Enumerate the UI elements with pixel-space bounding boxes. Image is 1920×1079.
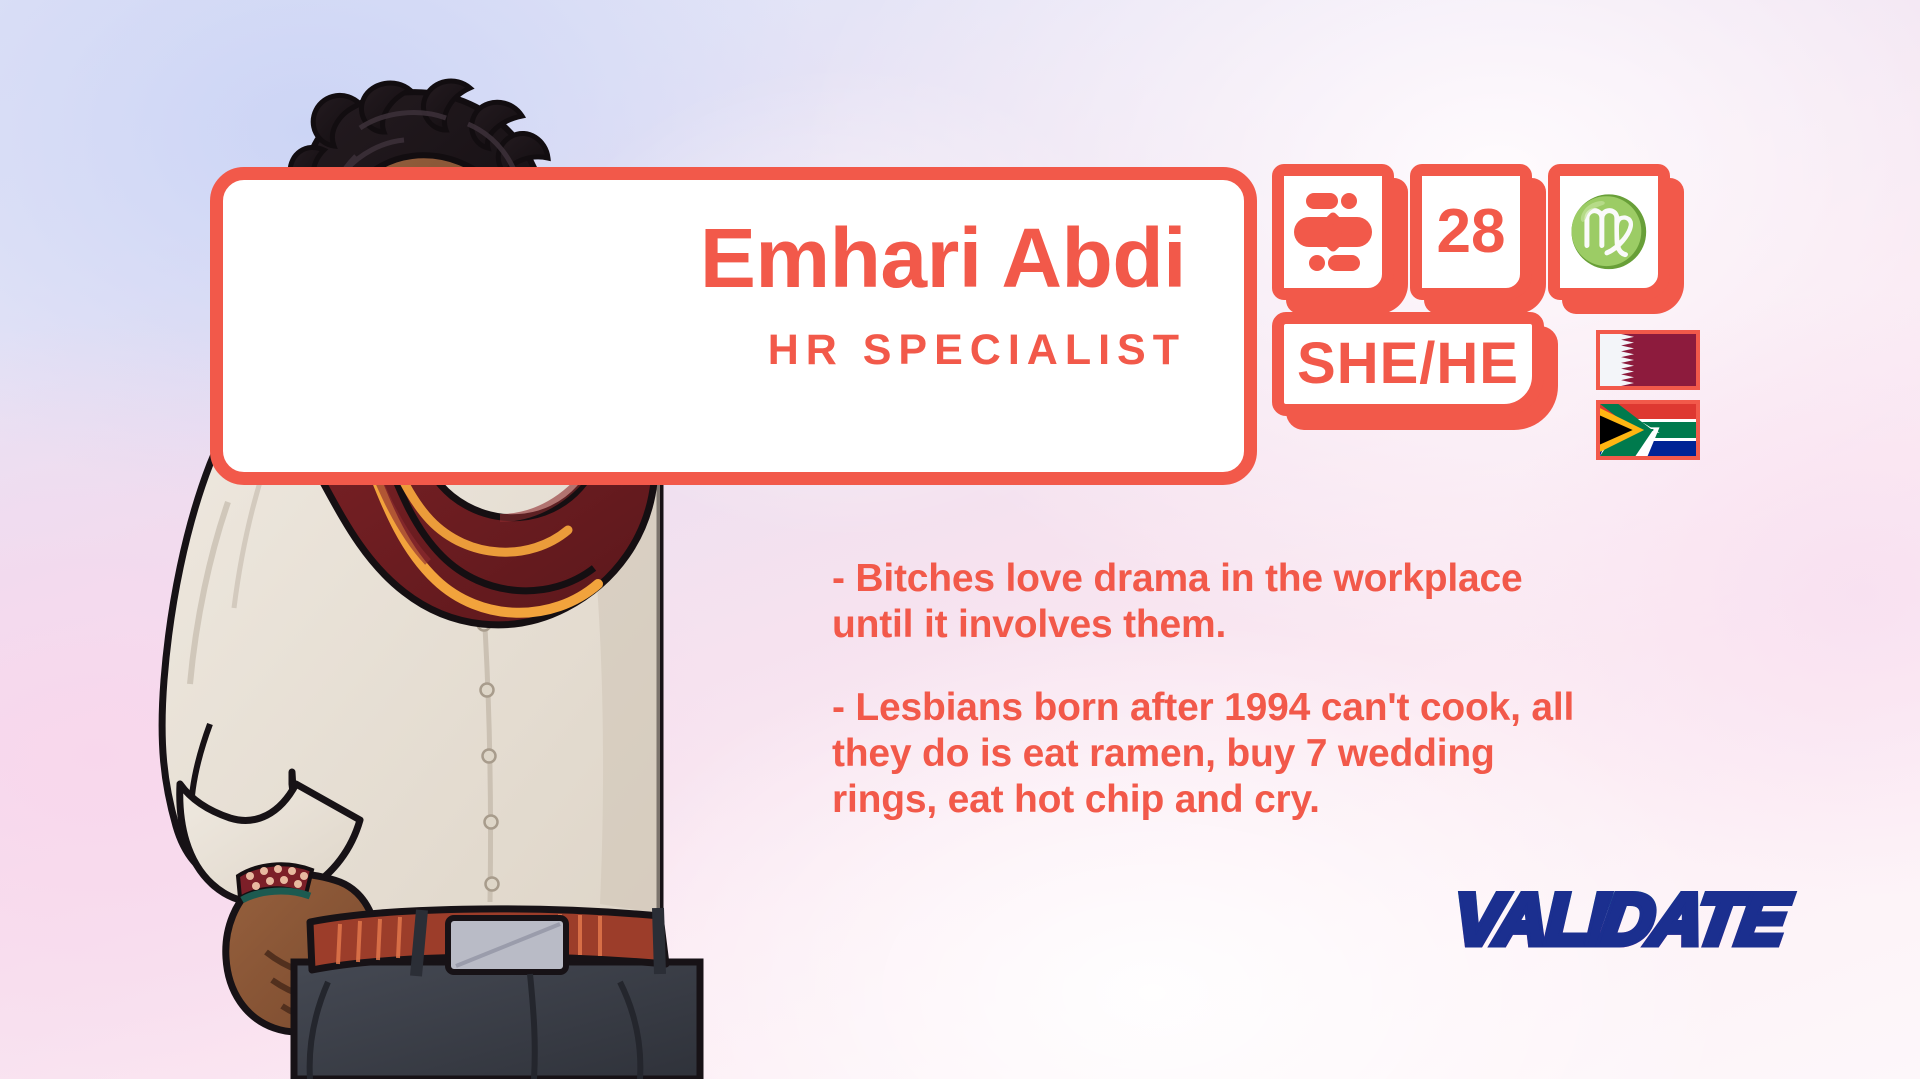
name-card: Emhari Abdi HR SPECIALIST: [210, 167, 1257, 485]
badge-row-bottom: SHE/HE: [1286, 326, 1700, 460]
pronoun-badge[interactable]: SHE/HE: [1286, 326, 1558, 430]
qatar-flag: [1596, 330, 1700, 390]
bio-line: - Bitches love drama in the workplace un…: [832, 556, 1602, 647]
page-title: Emhari Abdi: [546, 216, 1186, 302]
bio-section: - Bitches love drama in the workplace un…: [832, 556, 1602, 822]
age-badge-value: 28: [1437, 201, 1506, 263]
flag-group: [1596, 330, 1700, 460]
sapphic-symbol-icon: [1291, 193, 1375, 271]
age-badge-face: 28: [1410, 164, 1532, 300]
validate-logo: VALI DATE: [1455, 884, 1784, 956]
character-trousers: [294, 908, 700, 1079]
pronoun-badge-value: SHE/HE: [1297, 335, 1519, 393]
south-africa-flag: [1596, 400, 1700, 460]
character-bracelets: [238, 864, 312, 900]
character-role: HR SPECIALIST: [546, 326, 1186, 375]
pronoun-badge-face: SHE/HE: [1272, 312, 1544, 416]
logo-text-vali: VALI: [1454, 884, 1607, 956]
virgo-zodiac-icon: ♍: [1567, 198, 1652, 266]
age-badge[interactable]: 28: [1424, 178, 1546, 314]
badge-row-top: 28 ♍: [1286, 178, 1700, 314]
sexuality-badge-face: [1272, 164, 1394, 300]
logo-text-date: DATE: [1596, 884, 1790, 956]
qatar-flag-serrated-band: [1600, 334, 1634, 386]
sexuality-badge[interactable]: [1286, 178, 1408, 314]
zodiac-badge-face: ♍: [1548, 164, 1670, 300]
name-card-content: Emhari Abdi HR SPECIALIST: [546, 216, 1186, 375]
zodiac-badge[interactable]: ♍: [1562, 178, 1684, 314]
badge-group: 28 ♍ SHE/HE: [1286, 178, 1700, 460]
bio-line: - Lesbians born after 1994 can't cook, a…: [832, 685, 1602, 822]
